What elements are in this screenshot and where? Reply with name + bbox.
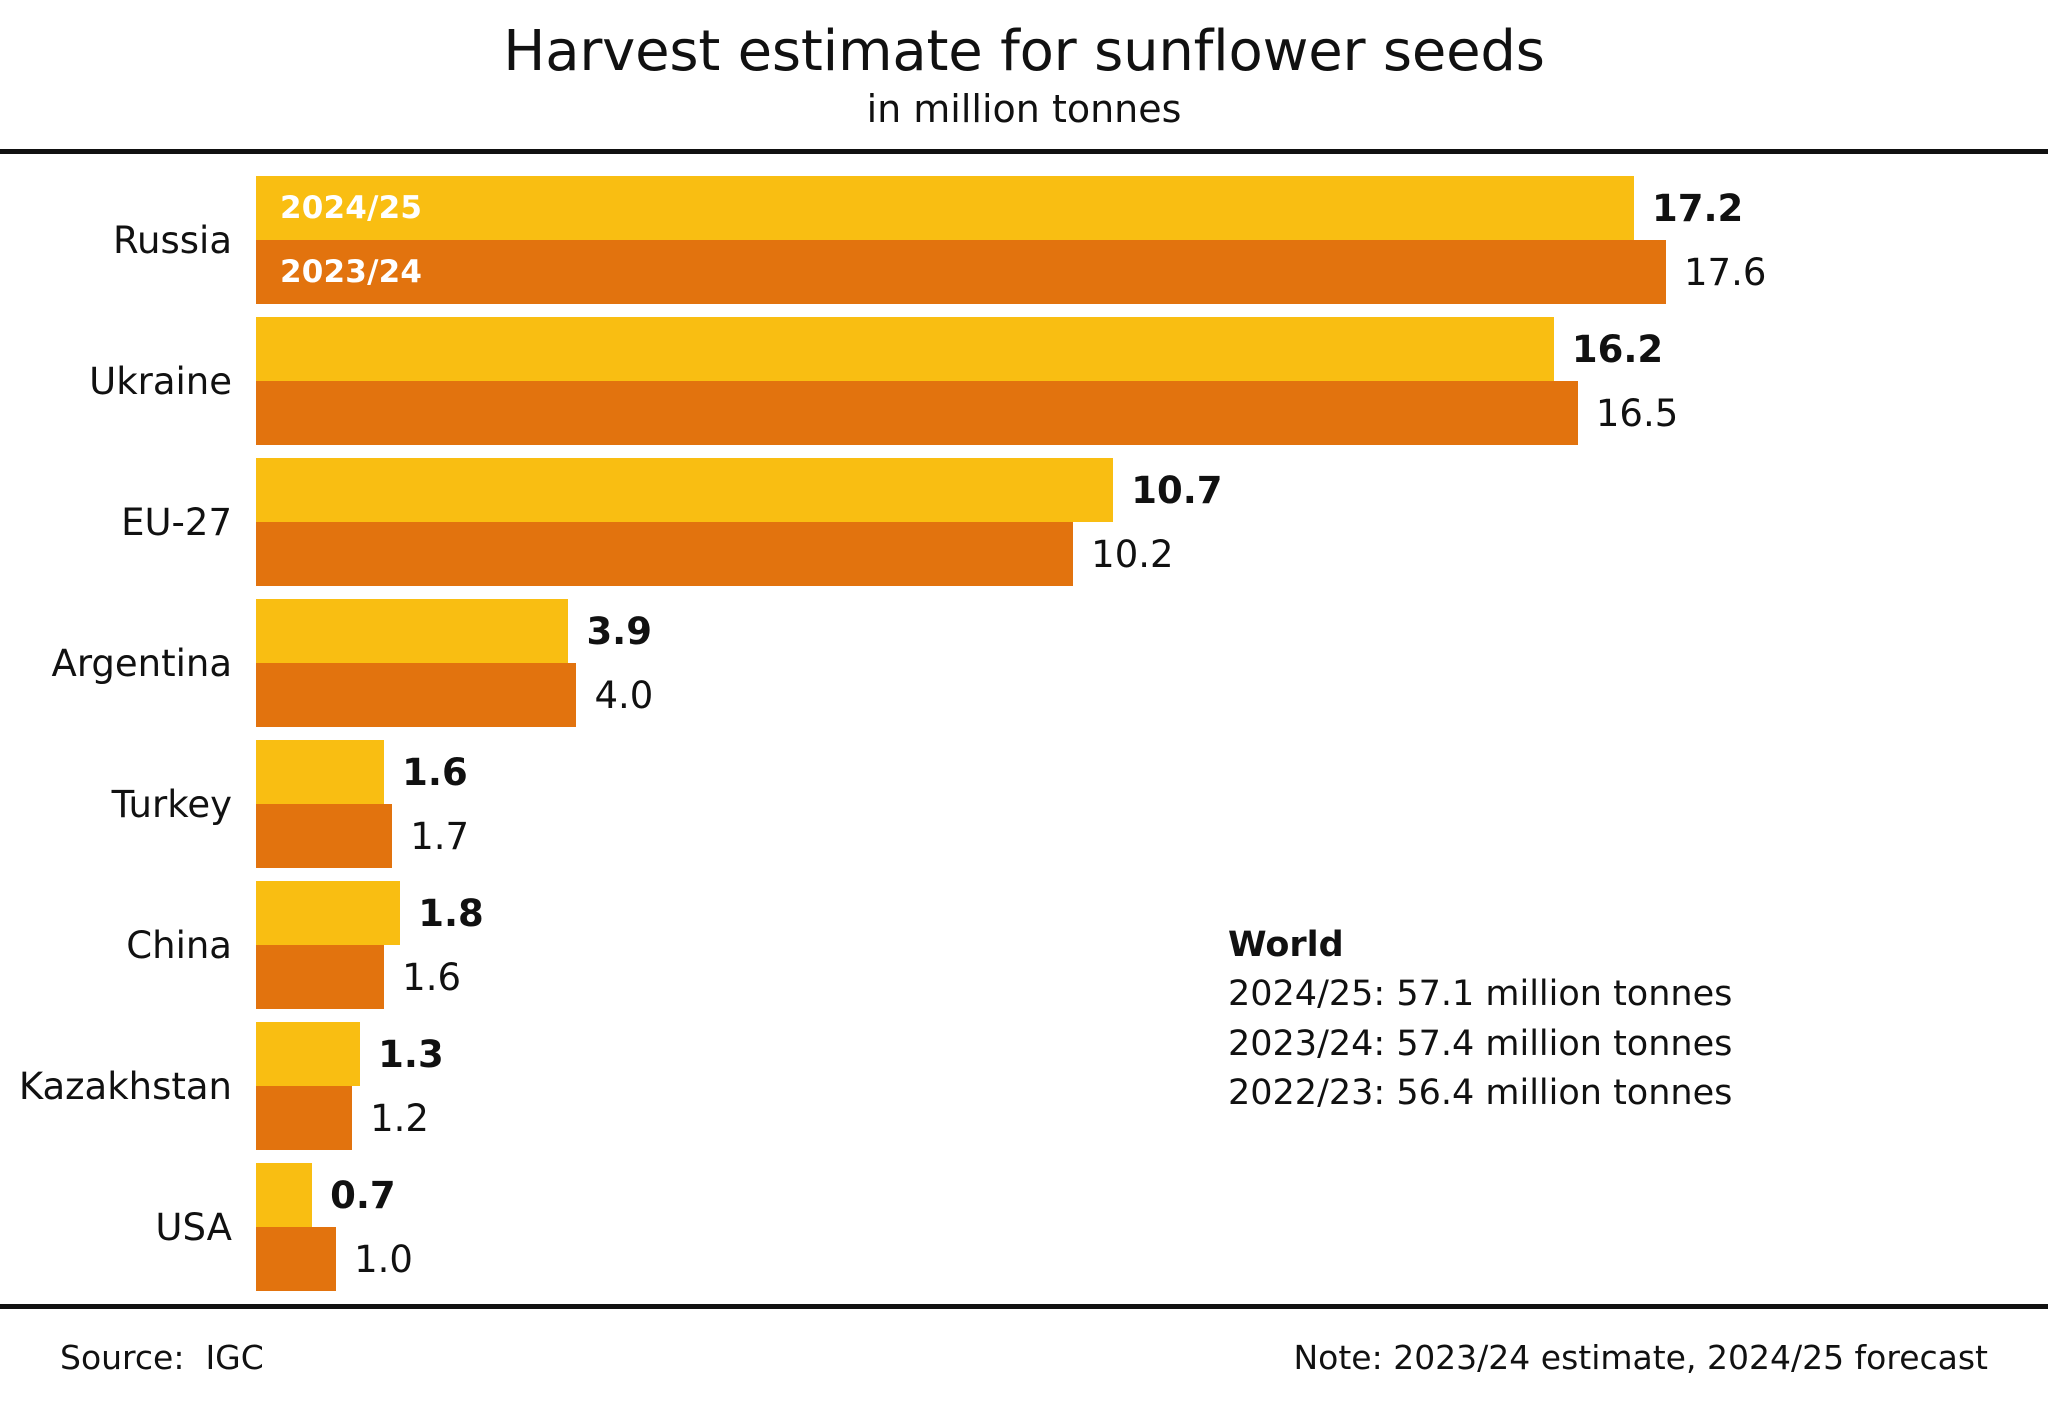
bar-row-2023-24: 16.5 bbox=[256, 381, 2048, 445]
bar-value-label: 16.5 bbox=[1596, 395, 1678, 432]
bar-row-2024-25: 3.9 bbox=[256, 599, 2048, 663]
bar-new[interactable] bbox=[256, 1022, 360, 1086]
bar-row-2023-24: 1.6 bbox=[256, 945, 2048, 1009]
world-annotation-line: 2023/24: 57.4 million tonnes bbox=[1228, 1025, 1732, 1064]
bar-value-label: 1.6 bbox=[402, 754, 468, 791]
category-label: Ukraine bbox=[0, 363, 232, 400]
note-label: Note: 2023/24 estimate, 2024/25 forecast bbox=[1293, 1338, 1988, 1377]
bar-old[interactable] bbox=[256, 381, 1578, 445]
page-title: Harvest estimate for sunflower seeds bbox=[0, 22, 2048, 81]
bar-new[interactable]: 2024/25 bbox=[256, 176, 1634, 240]
bar-group: Argentina3.94.0 bbox=[0, 599, 2048, 727]
category-label: Kazakhstan bbox=[0, 1068, 232, 1105]
bar-value-label: 3.9 bbox=[586, 613, 652, 650]
bar-pair: 0.71.0 bbox=[256, 1163, 2048, 1291]
world-annotation: World 2024/25: 57.1 million tonnes 2023/… bbox=[1228, 926, 1732, 1113]
bar-row-2024-25: 10.7 bbox=[256, 458, 2048, 522]
bar-value-label: 10.7 bbox=[1131, 472, 1222, 509]
bar-new[interactable] bbox=[256, 317, 1554, 381]
chart-footer: Source: IGC Note: 2023/24 estimate, 2024… bbox=[0, 1309, 2048, 1405]
bar-group: Turkey1.61.7 bbox=[0, 740, 2048, 868]
bar-row-2023-24: 10.2 bbox=[256, 522, 2048, 586]
category-label: Russia bbox=[0, 222, 232, 259]
bar-row-2024-25: 1.8 bbox=[256, 881, 2048, 945]
bar-new[interactable] bbox=[256, 1163, 312, 1227]
bar-value-label: 0.7 bbox=[330, 1177, 396, 1214]
bar-group: USA0.71.0 bbox=[0, 1163, 2048, 1291]
bar-value-label: 1.8 bbox=[418, 895, 484, 932]
source-label: Source: IGC bbox=[60, 1338, 264, 1377]
bar-row-2024-25: 1.6 bbox=[256, 740, 2048, 804]
bar-old[interactable] bbox=[256, 945, 384, 1009]
bar-value-label: 1.3 bbox=[378, 1036, 444, 1073]
bar-value-label: 17.2 bbox=[1652, 190, 1743, 227]
bar-pair: 2024/2517.22023/2417.6 bbox=[256, 176, 2048, 304]
category-label: Turkey bbox=[0, 786, 232, 823]
bar-pair: 1.61.7 bbox=[256, 740, 2048, 868]
bar-group: EU-2710.710.2 bbox=[0, 458, 2048, 586]
bar-old[interactable] bbox=[256, 1086, 352, 1150]
bar-row-2023-24: 1.7 bbox=[256, 804, 2048, 868]
bar-pair: 1.81.6 bbox=[256, 881, 2048, 1009]
category-label: Argentina bbox=[0, 645, 232, 682]
bar-value-label: 1.6 bbox=[402, 959, 461, 996]
bar-new[interactable] bbox=[256, 881, 400, 945]
world-annotation-line: 2024/25: 57.1 million tonnes bbox=[1228, 975, 1732, 1014]
bar-row-2024-25: 0.7 bbox=[256, 1163, 2048, 1227]
bar-value-label: 16.2 bbox=[1572, 331, 1663, 368]
bar-value-label: 10.2 bbox=[1091, 536, 1173, 573]
bar-old[interactable] bbox=[256, 522, 1073, 586]
bar-pair: 10.710.2 bbox=[256, 458, 2048, 586]
bar-old[interactable]: 2023/24 bbox=[256, 240, 1666, 304]
bar-group: Ukraine16.216.5 bbox=[0, 317, 2048, 445]
bar-row-2023-24: 4.0 bbox=[256, 663, 2048, 727]
bar-groups: Russia2024/2517.22023/2417.6Ukraine16.21… bbox=[0, 176, 2048, 1304]
chart-plot-area: Russia2024/2517.22023/2417.6Ukraine16.21… bbox=[0, 154, 2048, 1304]
category-label: EU-27 bbox=[0, 504, 232, 541]
bar-pair: 3.94.0 bbox=[256, 599, 2048, 727]
bar-new[interactable] bbox=[256, 599, 568, 663]
bar-pair: 16.216.5 bbox=[256, 317, 2048, 445]
bar-group: Kazakhstan1.31.2 bbox=[0, 1022, 2048, 1150]
series-legend-label: 2024/25 bbox=[280, 190, 422, 226]
bar-value-label: 1.2 bbox=[370, 1100, 429, 1137]
category-label: China bbox=[0, 927, 232, 964]
bar-value-label: 1.0 bbox=[354, 1241, 413, 1278]
bar-value-label: 17.6 bbox=[1684, 254, 1766, 291]
chart-subtitle: in million tonnes bbox=[0, 89, 2048, 131]
chart-page: Harvest estimate for sunflower seeds in … bbox=[0, 0, 2048, 1404]
bar-group: Russia2024/2517.22023/2417.6 bbox=[0, 176, 2048, 304]
world-annotation-title: World bbox=[1228, 926, 1732, 965]
bar-row-2023-24: 1.0 bbox=[256, 1227, 2048, 1291]
bar-new[interactable] bbox=[256, 458, 1113, 522]
bar-row-2024-25: 16.2 bbox=[256, 317, 2048, 381]
bar-pair: 1.31.2 bbox=[256, 1022, 2048, 1150]
world-annotation-line: 2022/23: 56.4 million tonnes bbox=[1228, 1074, 1732, 1113]
bar-row-2023-24: 1.2 bbox=[256, 1086, 2048, 1150]
bar-old[interactable] bbox=[256, 663, 576, 727]
bar-old[interactable] bbox=[256, 804, 392, 868]
bar-row-2023-24: 2023/2417.6 bbox=[256, 240, 2048, 304]
bar-row-2024-25: 2024/2517.2 bbox=[256, 176, 2048, 240]
category-label: USA bbox=[0, 1209, 232, 1246]
bar-group: China1.81.6 bbox=[0, 881, 2048, 1009]
bar-row-2024-25: 1.3 bbox=[256, 1022, 2048, 1086]
series-legend-label: 2023/24 bbox=[280, 254, 422, 290]
bar-new[interactable] bbox=[256, 740, 384, 804]
bar-old[interactable] bbox=[256, 1227, 336, 1291]
bar-value-label: 1.7 bbox=[410, 818, 469, 855]
bar-value-label: 4.0 bbox=[594, 677, 653, 714]
chart-header: Harvest estimate for sunflower seeds in … bbox=[0, 0, 2048, 131]
